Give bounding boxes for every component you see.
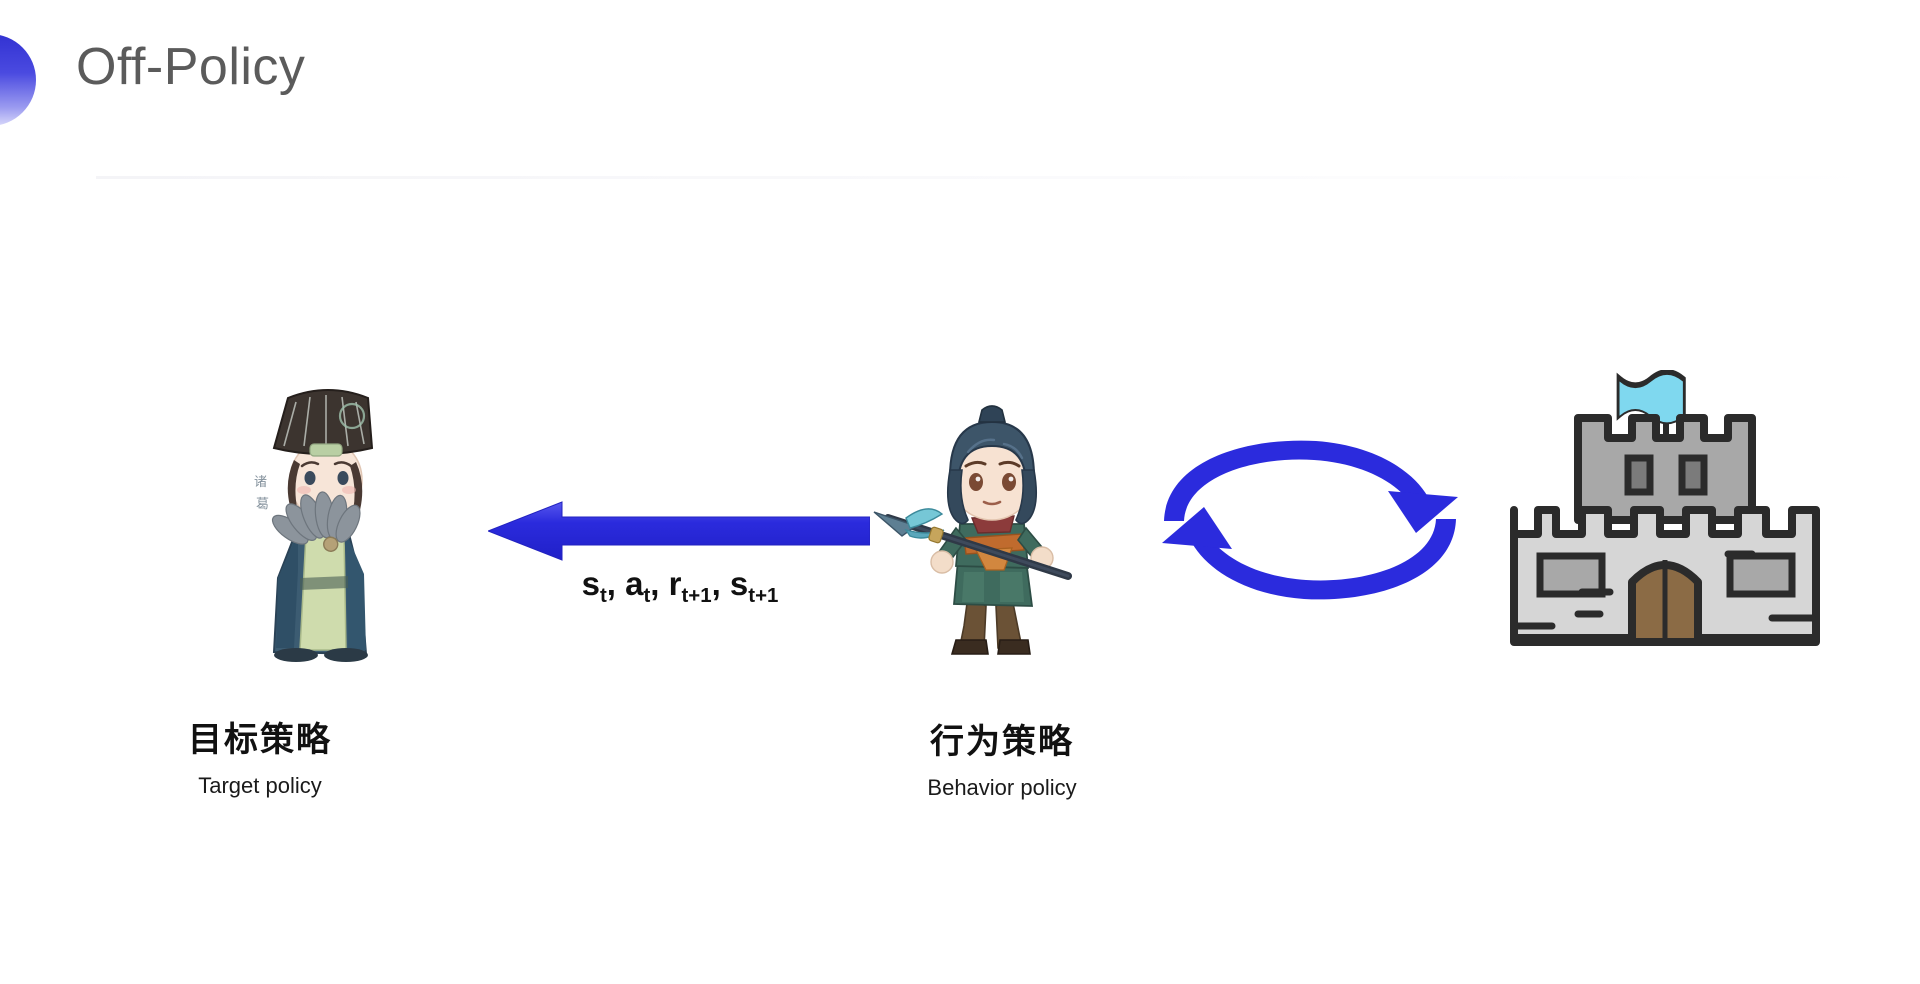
formula-separator-1: ,: [650, 565, 668, 602]
transition-formula: st, at, rt+1, st+1: [540, 565, 820, 603]
behavior-policy-label-cn: 行为策略: [892, 722, 1112, 763]
formula-term-2: rt+1: [669, 565, 712, 602]
formula-subscript-3: t+1: [748, 584, 778, 607]
formula-term-1: at: [625, 565, 650, 602]
svg-text:葛: 葛: [256, 497, 269, 512]
target-policy-labels: 目标策略 Target policy: [150, 720, 370, 799]
behavior-policy-label-en: Behavior policy: [892, 775, 1112, 801]
strategist-character-icon: 诸 葛: [248, 382, 408, 662]
interaction-cycle-arrows-icon: [1150, 435, 1470, 605]
castle-icon: [1500, 370, 1830, 660]
formula-term-3: st+1: [730, 565, 778, 602]
behavior-policy-figure: [872, 400, 1132, 660]
behavior-policy-labels: 行为策略 Behavior policy: [892, 722, 1112, 801]
formula-separator-2: ,: [712, 565, 730, 602]
formula-term-0: st: [582, 565, 607, 602]
target-policy-label-cn: 目标策略: [150, 720, 370, 761]
formula-separator-0: ,: [607, 565, 625, 602]
title-divider: [96, 176, 1896, 179]
formula-subscript-0: t: [600, 584, 607, 607]
svg-text:诸: 诸: [254, 475, 267, 490]
environment-figure: [1500, 370, 1830, 660]
soldier-character-icon: [872, 400, 1132, 660]
target-policy-label-en: Target policy: [150, 773, 370, 799]
slide-canvas: Off-Policy: [0, 0, 1920, 984]
target-policy-figure: 诸 葛: [248, 382, 408, 662]
page-title: Off-Policy: [76, 38, 305, 98]
formula-subscript-2: t+1: [681, 584, 711, 607]
formula-subscript-1: t: [643, 584, 650, 607]
transition-arrow-icon: [488, 500, 870, 562]
title-accent-marker-icon: [0, 34, 36, 126]
